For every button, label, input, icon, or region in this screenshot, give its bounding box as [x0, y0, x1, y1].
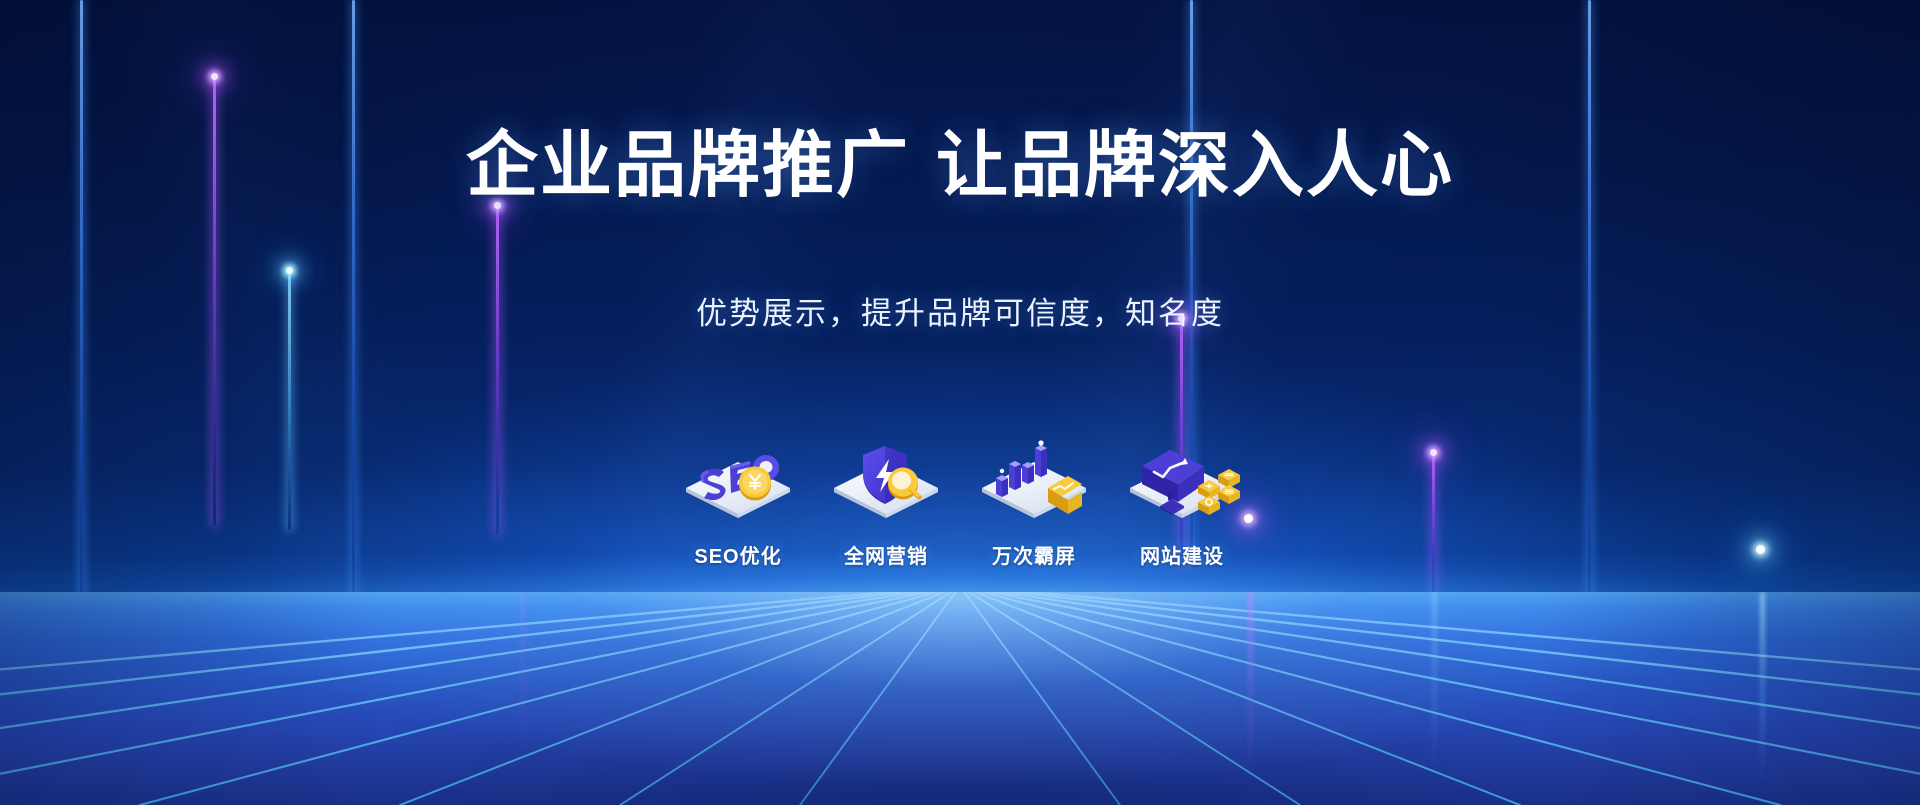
feature-item-exposure[interactable]: 万次霸屏 [960, 440, 1108, 569]
feature-label-website: 网站建设 [1140, 540, 1224, 569]
seo-isometric-icon [672, 440, 804, 532]
feature-label-marketing: 全网营销 [844, 540, 928, 569]
feature-label-seo: SEO优化 [694, 540, 781, 569]
feature-label-exposure: 万次霸屏 [992, 540, 1076, 569]
banner-headline: 企业品牌推广让品牌深入人心 [0, 128, 1920, 206]
banner-content: 企业品牌推广让品牌深入人心 优势展示，提升品牌可信度，知名度 [0, 0, 1920, 805]
bar-chart-isometric-icon [968, 440, 1100, 532]
shield-search-isometric-icon [820, 440, 952, 532]
feature-item-seo[interactable]: SEO优化 [664, 440, 812, 569]
promo-banner: 企业品牌推广让品牌深入人心 优势展示，提升品牌可信度，知名度 [0, 0, 1920, 805]
feature-item-marketing[interactable]: 全网营销 [812, 440, 960, 569]
monitor-grid-isometric-icon [1116, 440, 1248, 532]
headline-part-1: 企业品牌推广 [466, 126, 910, 206]
feature-item-website[interactable]: 网站建设 [1108, 440, 1256, 569]
banner-subheadline: 优势展示，提升品牌可信度，知名度 [0, 288, 1920, 333]
headline-part-2: 让品牌深入人心 [936, 126, 1454, 206]
feature-icon-row: SEO优化 [664, 440, 1256, 569]
